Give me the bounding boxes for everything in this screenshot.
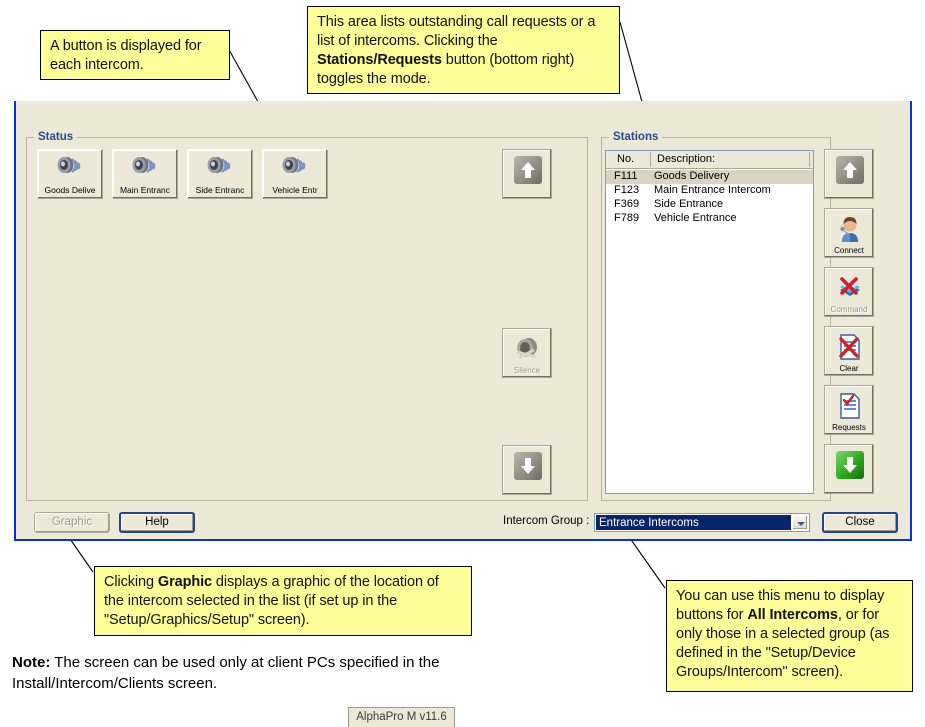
- intercom-control-window: Status Goods Delive Main Entranc: [14, 101, 912, 541]
- requests-button-label: Requests: [825, 423, 873, 432]
- intercom-button-label: Main Entranc: [113, 185, 177, 195]
- station-no: F789: [614, 212, 639, 224]
- stations-list[interactable]: No. Description: F111 Goods Delivery F12…: [605, 150, 814, 494]
- status-scroll-up-button[interactable]: [502, 149, 552, 199]
- speaker-mute-icon: [514, 335, 542, 363]
- callout-graphic: Clicking Graphic displays a graphic of t…: [94, 566, 472, 636]
- silence-button[interactable]: Silence: [502, 328, 552, 378]
- callout-intercom-buttons: A button is displayed for each intercom.: [40, 30, 230, 80]
- stations-scroll-down-button[interactable]: [824, 444, 874, 494]
- callout-graphic-text-a: Clicking: [104, 574, 158, 590]
- note-prefix: Note:: [12, 654, 50, 671]
- station-description: Main Entrance Intercom: [654, 184, 771, 196]
- arrow-down-icon: [514, 452, 542, 480]
- station-description: Goods Delivery: [654, 170, 729, 182]
- requests-list-icon: [836, 392, 864, 420]
- connect-button[interactable]: Connect: [824, 208, 874, 258]
- callout-intercom-group-menu: You can use this menu to display buttons…: [666, 580, 913, 692]
- speaker-icon: [131, 155, 161, 177]
- close-button[interactable]: Close: [822, 512, 898, 533]
- chevron-down-icon[interactable]: [792, 515, 808, 530]
- column-separator[interactable]: [809, 152, 810, 167]
- callout-group-text-b: All Intercoms: [747, 607, 838, 623]
- column-separator[interactable]: [650, 152, 651, 167]
- person-headset-icon: [836, 215, 864, 243]
- stations-list-header: No. Description:: [606, 151, 813, 169]
- table-row[interactable]: F369 Side Entrance: [606, 198, 813, 212]
- speaker-icon: [281, 155, 311, 177]
- arrow-up-icon: [514, 156, 542, 184]
- note-body: The screen can be used only at client PC…: [12, 654, 439, 692]
- intercom-button-0[interactable]: Goods Delive: [37, 149, 103, 199]
- station-description: Side Entrance: [654, 198, 723, 210]
- intercom-button-1[interactable]: Main Entranc: [112, 149, 178, 199]
- table-row[interactable]: F789 Vehicle Entrance: [606, 212, 813, 226]
- callout-graphic-text-b: Graphic: [158, 574, 212, 590]
- command-button[interactable]: Command: [824, 267, 874, 317]
- intercom-group-select[interactable]: Entrance Intercoms: [594, 513, 810, 532]
- clear-button[interactable]: Clear: [824, 326, 874, 376]
- intercom-button-2[interactable]: Side Entranc: [187, 149, 253, 199]
- version-button[interactable]: AlphaPro M v11.6: [348, 707, 455, 727]
- intercom-group-label: Intercom Group :: [503, 515, 589, 527]
- station-description: Vehicle Entrance: [654, 212, 737, 224]
- station-no: F369: [614, 198, 639, 210]
- table-row[interactable]: F111 Goods Delivery: [606, 170, 813, 184]
- intercom-button-label: Goods Delive: [38, 185, 102, 195]
- arrow-down-icon: [836, 451, 864, 479]
- note-text: Note: The screen can be used only at cli…: [12, 652, 592, 694]
- stations-group-label: Stations: [609, 131, 662, 143]
- table-row[interactable]: F123 Main Entrance Intercom: [606, 184, 813, 198]
- intercom-button-3[interactable]: Vehicle Entr: [262, 149, 328, 199]
- clear-button-label: Clear: [825, 364, 873, 373]
- column-header-no[interactable]: No.: [617, 153, 634, 165]
- intercom-group-value: Entrance Intercoms: [596, 515, 791, 530]
- callout-list-area-text-b: Stations/Requests: [317, 52, 442, 68]
- help-button[interactable]: Help: [119, 512, 195, 533]
- station-no: F111: [614, 170, 637, 182]
- intercom-button-label: Vehicle Entr: [263, 185, 327, 195]
- silence-button-label: Silence: [503, 366, 551, 375]
- station-no: F123: [614, 184, 639, 196]
- callout-list-area-text-a: This area lists outstanding call request…: [317, 14, 595, 49]
- status-group-label: Status: [34, 131, 77, 143]
- speaker-icon: [56, 155, 86, 177]
- stations-scroll-up-button[interactable]: [824, 149, 874, 199]
- command-stack-icon: [836, 274, 864, 302]
- clear-list-icon: [836, 333, 864, 361]
- status-scroll-down-button[interactable]: [502, 445, 552, 495]
- speaker-icon: [206, 155, 236, 177]
- command-button-label: Command: [825, 305, 873, 314]
- column-header-description[interactable]: Description:: [657, 153, 715, 165]
- intercom-button-label: Side Entranc: [188, 185, 252, 195]
- callout-list-area: This area lists outstanding call request…: [307, 6, 620, 94]
- connect-button-label: Connect: [825, 246, 873, 255]
- graphic-button[interactable]: Graphic: [34, 512, 110, 533]
- arrow-up-icon: [836, 156, 864, 184]
- requests-button[interactable]: Requests: [824, 385, 874, 435]
